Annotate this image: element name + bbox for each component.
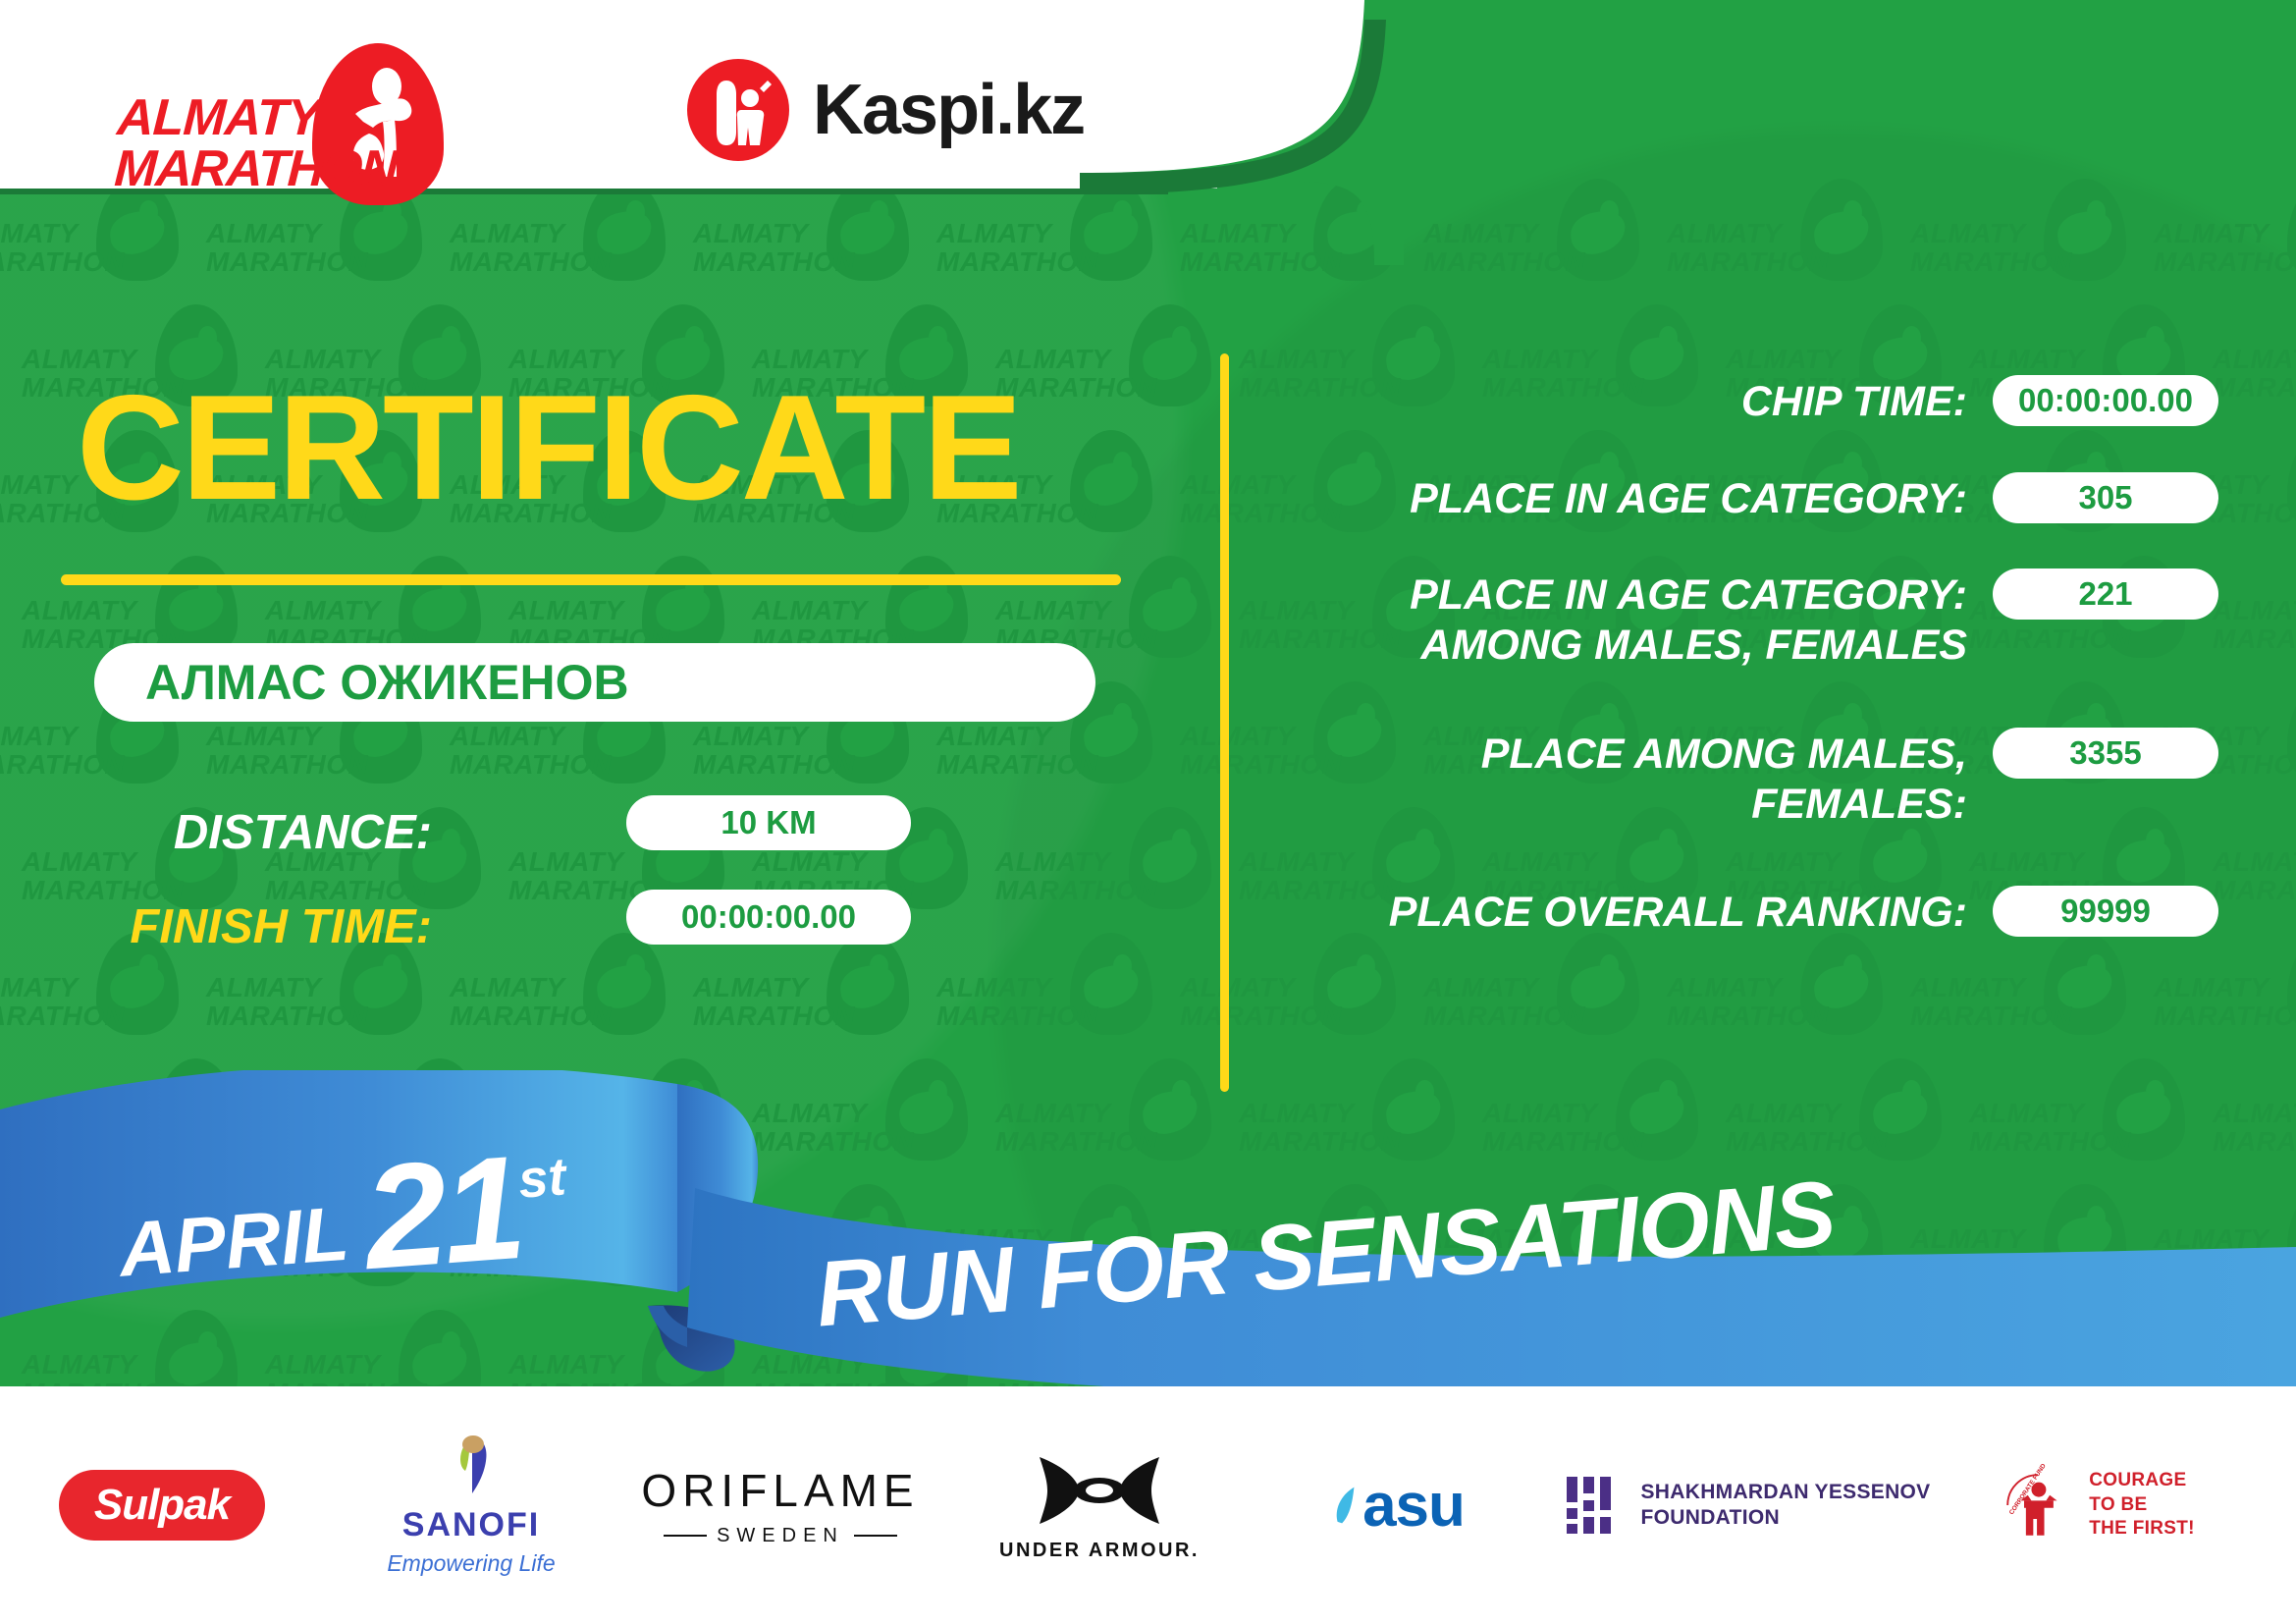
watermark-tile: ALMATYMARATHON	[2152, 177, 2296, 302]
participant-name-field: АЛМАС ОЖИКЕНОВ	[94, 643, 1095, 722]
watermark-tile: ALMATYMARATHON	[691, 177, 934, 302]
stat-label: PLACE IN AGE CATEGORY:	[1276, 470, 1993, 524]
watermark-drop-icon	[2287, 681, 2296, 784]
watermark-text: ALMATYMARATHON	[206, 723, 368, 779]
watermark-tile: ALMATYMARATHON	[993, 302, 1237, 428]
sponsor-bar: Sulpak SANOFI Empowering Life ORIFLAME S…	[0, 1386, 2296, 1624]
watermark-drop-icon	[1129, 807, 1211, 909]
watermark-drop-icon	[2287, 179, 2296, 281]
watermark-text: ALMATYMARATHON	[2213, 848, 2296, 904]
under-armour-icon	[1026, 1449, 1173, 1532]
asu-leaf-icon	[1333, 1486, 1359, 1525]
participant-name-value: АЛМАС ОЖИКЕНОВ	[145, 658, 629, 707]
watermark-tile: ALMATYMARATHON	[1421, 177, 1665, 302]
stat-value-field: 3355	[1993, 728, 2218, 779]
watermark-drop-icon	[1800, 179, 1883, 281]
sponsor-sanofi: SANOFI Empowering Life	[324, 1434, 618, 1577]
sanofi-wordmark: SANOFI	[402, 1506, 540, 1544]
certificate-row-value: 10 KM	[721, 804, 816, 841]
watermark-tile: ALMATYMARATHON	[2211, 302, 2296, 428]
watermark-text: ALMATYMARATHON	[1910, 220, 2072, 276]
results-stats-list: CHIP TIME:00:00:00.00PLACE IN AGE CATEGO…	[1276, 373, 2218, 981]
certificate-page: ALMATYMARATHONALMATYMARATHONALMATYMARATH…	[0, 0, 2296, 1624]
stat-row: PLACE IN AGE CATEGORY:305	[1276, 470, 2218, 524]
ribbon-day: 21	[360, 1144, 525, 1281]
watermark-text: ALMATYMARATHON	[0, 723, 125, 779]
watermark-tile: ALMATYMARATHON	[1908, 177, 2152, 302]
watermark-text: ALMATYMARATHON	[1423, 220, 1585, 276]
ribbon-day-suffix: st	[516, 1140, 568, 1206]
kaspi-people-icon	[687, 59, 789, 161]
certificate-row-value-field: 10 KM	[626, 795, 911, 850]
certificate-row-value: 00:00:00.00	[681, 898, 856, 936]
watermark-drop-icon	[2287, 933, 2296, 1035]
watermark-tile: ALMATYMARATHON	[1665, 177, 1908, 302]
marathon-word-line1: ALMATY	[116, 92, 400, 143]
stat-label: PLACE OVERALL RANKING:	[1276, 884, 1993, 938]
stat-row: CHIP TIME:00:00:00.00	[1276, 373, 2218, 427]
watermark-drop-icon	[1129, 304, 1211, 406]
courage-fund-wordmark: COURAGE TO BE THE FIRST!	[2089, 1469, 2195, 1542]
watermark-text: ALMATYMARATHON	[693, 723, 855, 779]
sponsor-asu: asu	[1256, 1471, 1541, 1541]
kaspi-logo: Kaspi.kz	[687, 57, 1084, 163]
watermark-drop-icon	[1557, 179, 1639, 281]
title-underline	[61, 574, 1121, 585]
watermark-drop-icon	[1129, 556, 1211, 658]
vertical-divider	[1220, 353, 1229, 1092]
almaty-marathon-logo: ALMATY MARATHON	[116, 43, 440, 161]
watermark-text: ALMATYMARATHON	[450, 723, 612, 779]
asu-logo: asu	[1333, 1471, 1465, 1541]
stat-row: PLACE AMONG MALES, FEMALES:3355	[1276, 726, 2218, 829]
yessenov-wordmark: SHAKHMARDAN YESSENOV FOUNDATION	[1641, 1480, 1931, 1532]
stat-value-field: 305	[1993, 472, 2218, 523]
certificate-row: FINISH TIME:00:00:00.00	[0, 890, 1080, 984]
stat-row: PLACE IN AGE CATEGORY: AMONG MALES, FEMA…	[1276, 567, 2218, 670]
stat-value-field: 99999	[1993, 886, 2218, 937]
oriflame-sub: SWEDEN	[717, 1525, 844, 1547]
sponsor-under-armour: UNDER ARMOUR.	[942, 1449, 1256, 1562]
distance-and-finish-rows: DISTANCE:10 KMFINISH TIME:00:00:00.00	[0, 795, 1080, 984]
sanofi-icon	[443, 1434, 500, 1500]
watermark-text: ALMATYMARATHON	[1180, 974, 1342, 1030]
sponsor-courage-fund: CORPORATE FUND COURAGE TO BE THE FIRST!	[1953, 1464, 2238, 1546]
watermark-text: ALMATYMARATHON	[936, 220, 1098, 276]
yessenov-bars-icon	[1565, 1475, 1624, 1536]
sponsor-sulpak: Sulpak	[0, 1470, 324, 1541]
watermark-text: ALMATYMARATHON	[1423, 974, 1585, 1030]
watermark-tile: ALMATYMARATHON	[448, 177, 691, 302]
watermark-text: ALMATYMARATHON	[2213, 597, 2296, 653]
event-date-ribbon: APRIL 21 st RUN FOR SENSATIONS	[0, 1070, 2296, 1394]
under-armour-wordmark: UNDER ARMOUR.	[999, 1540, 1200, 1562]
stat-value: 00:00:00.00	[2018, 382, 2193, 419]
watermark-text: ALMATYMARATHON	[995, 346, 1157, 402]
sponsor-oriflame: ORIFLAME SWEDEN	[618, 1464, 942, 1547]
almaty-marathon-wordmark: ALMATY MARATHON	[113, 92, 400, 194]
sulpak-logo: Sulpak	[59, 1470, 265, 1541]
watermark-text: ALMATYMARATHON	[2213, 346, 2296, 402]
watermark-tile: ALMATYMARATHON	[2211, 554, 2296, 679]
certificate-row-label: FINISH TIME:	[130, 903, 432, 951]
oriflame-wordmark: ORIFLAME	[641, 1464, 919, 1517]
certificate-row: DISTANCE:10 KM	[0, 795, 1080, 890]
watermark-drop-icon	[1070, 933, 1152, 1035]
watermark-text: ALMATYMARATHON	[450, 220, 612, 276]
stat-label: PLACE IN AGE CATEGORY: AMONG MALES, FEMA…	[1276, 567, 1993, 670]
stat-value-field: 221	[1993, 568, 2218, 620]
watermark-text: ALMATYMARATHON	[206, 220, 368, 276]
stat-label: PLACE AMONG MALES, FEMALES:	[1276, 726, 1993, 829]
stat-row: PLACE OVERALL RANKING:99999	[1276, 884, 2218, 938]
stat-value: 221	[2078, 575, 2132, 613]
sanofi-tagline: Empowering Life	[387, 1550, 555, 1577]
stat-value-field: 00:00:00.00	[1993, 375, 2218, 426]
certificate-row-value-field: 00:00:00.00	[626, 890, 911, 945]
watermark-drop-icon	[2287, 430, 2296, 532]
watermark-text: ALMATYMARATHON	[1910, 974, 2072, 1030]
marathon-word-line2: MARATHON	[113, 143, 398, 194]
stat-label: CHIP TIME:	[1276, 373, 1993, 427]
stat-value: 305	[2078, 479, 2132, 516]
watermark-text: ALMATYMARATHON	[2154, 220, 2296, 276]
courage-fund-icon: CORPORATE FUND	[1997, 1464, 2079, 1546]
watermark-text: ALMATYMARATHON	[2154, 974, 2296, 1030]
watermark-text: ALMATYMARATHON	[0, 220, 125, 276]
certificate-row-label: DISTANCE:	[174, 809, 432, 857]
asu-wordmark: asu	[1362, 1471, 1465, 1541]
watermark-tile: ALMATYMARATHON	[2211, 805, 2296, 931]
sponsor-yessenov: SHAKHMARDAN YESSENOV FOUNDATION	[1541, 1475, 1953, 1536]
ribbon-month: APRIL	[117, 1195, 352, 1300]
watermark-text: ALMATYMARATHON	[1667, 220, 1829, 276]
stat-value: 99999	[2060, 893, 2151, 930]
watermark-text: ALMATYMARATHON	[1667, 974, 1829, 1030]
watermark-text: ALMATYMARATHON	[936, 723, 1098, 779]
watermark-drop-icon	[2044, 179, 2126, 281]
header-curve-shape	[1080, 0, 1404, 265]
watermark-drop-icon	[1070, 430, 1152, 532]
certificate-title: CERTIFICATE	[77, 373, 1020, 522]
watermark-text: ALMATYMARATHON	[693, 220, 855, 276]
kaspi-wordmark: Kaspi.kz	[813, 75, 1084, 145]
stat-value: 3355	[2069, 734, 2141, 772]
